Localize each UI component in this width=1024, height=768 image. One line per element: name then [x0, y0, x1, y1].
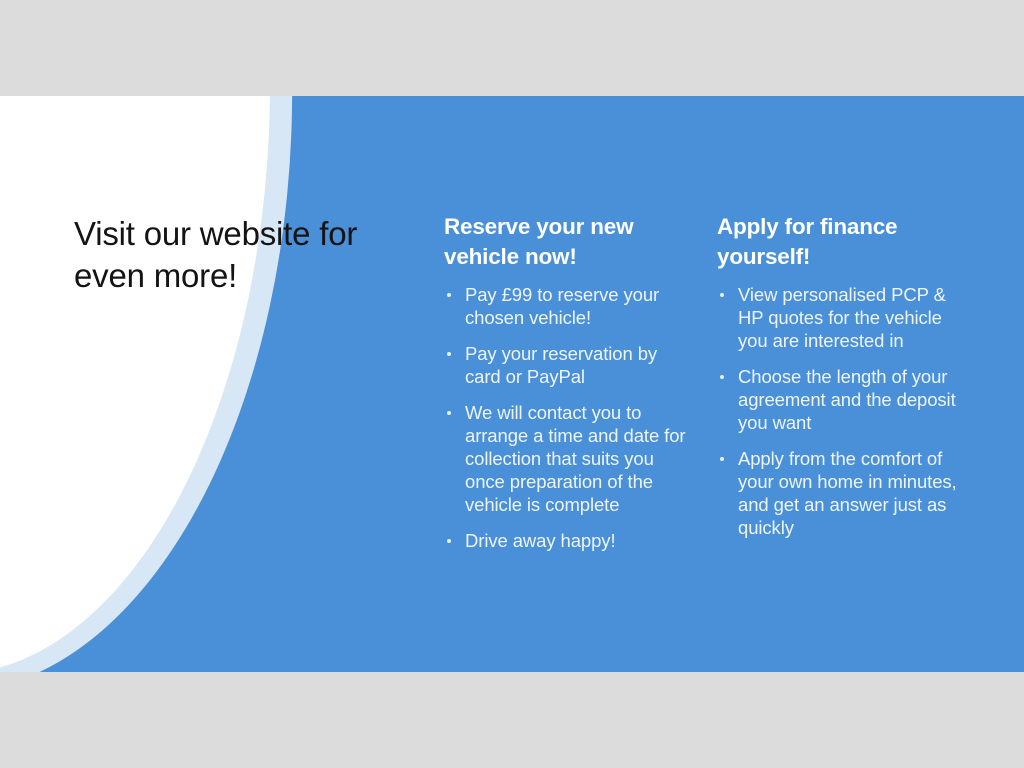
list-item: View personalised PCP & HP quotes for th…: [717, 284, 967, 353]
column-reserve: Reserve your new vehicle now! Pay £99 to…: [444, 212, 690, 553]
bullet-dot-icon: [720, 293, 724, 297]
accent-band-shape: [0, 96, 292, 672]
list-item: Drive away happy!: [444, 530, 690, 553]
bullet-dot-icon: [447, 411, 451, 415]
bullet-dot-icon: [447, 352, 451, 356]
list-item-text: Choose the length of your agreement and …: [738, 366, 956, 433]
list-item: Pay your reservation by card or PayPal: [444, 343, 690, 389]
column-finance: Apply for finance yourself! View persona…: [717, 212, 967, 540]
list-item: Apply from the comfort of your own home …: [717, 448, 967, 540]
list-item-text: Pay your reservation by card or PayPal: [465, 343, 657, 387]
letterbox-bar-top: [0, 0, 1024, 96]
list-item-text: Drive away happy!: [465, 530, 615, 551]
white-curve-shape: [0, 96, 270, 672]
page-title: Visit our website for even more!: [74, 213, 364, 296]
column-heading-finance: Apply for finance yourself!: [717, 212, 967, 271]
slide-canvas: Visit our website for even more! Reserve…: [0, 96, 1024, 672]
letterbox-bar-bottom: [0, 672, 1024, 768]
bullet-list-reserve: Pay £99 to reserve your chosen vehicle! …: [444, 284, 690, 552]
list-item-text: View personalised PCP & HP quotes for th…: [738, 284, 946, 351]
list-item-text: Apply from the comfort of your own home …: [738, 448, 957, 538]
bullet-list-finance: View personalised PCP & HP quotes for th…: [717, 284, 967, 539]
bullet-dot-icon: [720, 375, 724, 379]
list-item-text: Pay £99 to reserve your chosen vehicle!: [465, 284, 659, 328]
bullet-dot-icon: [447, 293, 451, 297]
bullet-dot-icon: [720, 457, 724, 461]
column-heading-reserve: Reserve your new vehicle now!: [444, 212, 690, 271]
list-item-text: We will contact you to arrange a time an…: [465, 402, 685, 515]
bullet-dot-icon: [447, 539, 451, 543]
list-item: Choose the length of your agreement and …: [717, 366, 967, 435]
list-item: We will contact you to arrange a time an…: [444, 402, 690, 517]
slide-screenshot: Visit our website for even more! Reserve…: [0, 0, 1024, 768]
list-item: Pay £99 to reserve your chosen vehicle!: [444, 284, 690, 330]
